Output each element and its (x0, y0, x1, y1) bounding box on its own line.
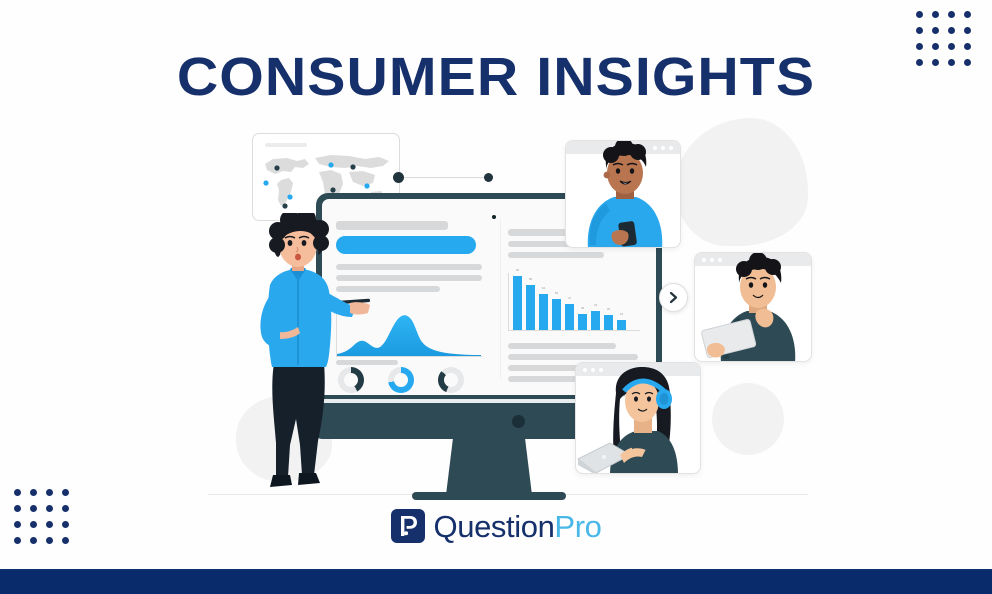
monitor-stand (446, 439, 532, 495)
bar-value-label: 96 (516, 268, 519, 272)
bar: 33 (591, 311, 600, 330)
bar: 64 (539, 294, 548, 330)
grid-dot (14, 489, 21, 496)
questionpro-logo[interactable]: QuestionPro (0, 509, 992, 543)
grid-dot (948, 11, 955, 18)
bar-value-label: 56 (555, 291, 558, 295)
monitor-base (412, 492, 566, 500)
presenter-illustration (240, 213, 372, 498)
participant-woman-laptop[interactable] (575, 362, 701, 474)
grid-dot (30, 489, 37, 496)
logo-text-primary: Question (434, 509, 555, 544)
grid-dot (46, 489, 53, 496)
grid-dot (916, 11, 923, 18)
logo-text-secondary: Pro (554, 509, 601, 544)
connector-line (399, 177, 491, 178)
bar-value-label: 47 (568, 296, 571, 300)
poster-canvas: CONSUMER INSIGHTS (0, 0, 992, 594)
bar: 56 (552, 299, 561, 330)
chevron-right-icon (667, 291, 680, 304)
grid-dot (964, 11, 971, 18)
participant-man-tablet[interactable] (694, 252, 812, 362)
connector-node-left (393, 172, 404, 183)
grid-dot (964, 27, 971, 34)
bar: 96 (513, 276, 522, 330)
logo-p-glyph (391, 509, 425, 543)
bar: 47 (565, 304, 574, 330)
bar: 18 (617, 320, 626, 330)
text-placeholder-bar (508, 343, 616, 349)
carousel-next-button[interactable] (659, 283, 688, 312)
page-title: CONSUMER INSIGHTS (0, 46, 992, 108)
text-placeholder-bar (508, 354, 638, 360)
bar-value-label: 26 (607, 307, 610, 311)
grid-dot (932, 11, 939, 18)
bar-value-label: 64 (542, 286, 545, 290)
logo-mark (391, 509, 425, 543)
map-card-placeholder-label (265, 143, 307, 147)
bottom-bar (0, 571, 992, 594)
bar: 28 (578, 314, 587, 330)
webcam-icon (490, 213, 498, 221)
bar-value-label: 33 (594, 303, 597, 307)
participant-man-phone[interactable] (565, 140, 681, 248)
grid-dot (932, 27, 939, 34)
grid-dot (62, 489, 69, 496)
bar-value-label: 18 (620, 312, 623, 316)
bar: 26 (604, 315, 613, 330)
kpi-donut (438, 367, 464, 393)
logo-wordmark: QuestionPro (434, 511, 602, 542)
connector-node-right (484, 173, 493, 182)
background-blob-small (712, 383, 784, 455)
grid-dot (948, 27, 955, 34)
power-button-icon[interactable] (512, 415, 525, 428)
kpi-donut (388, 367, 414, 393)
bar-chart: 96 80 64 56 47 28 33 26 18 (508, 273, 640, 331)
background-blob-large (676, 118, 808, 246)
text-placeholder-bar (508, 252, 604, 258)
bar: 80 (526, 285, 535, 330)
grid-dot (916, 27, 923, 34)
bar-value-label: 80 (529, 277, 532, 281)
panel-divider (500, 219, 501, 379)
bar-value-label: 28 (581, 306, 584, 310)
